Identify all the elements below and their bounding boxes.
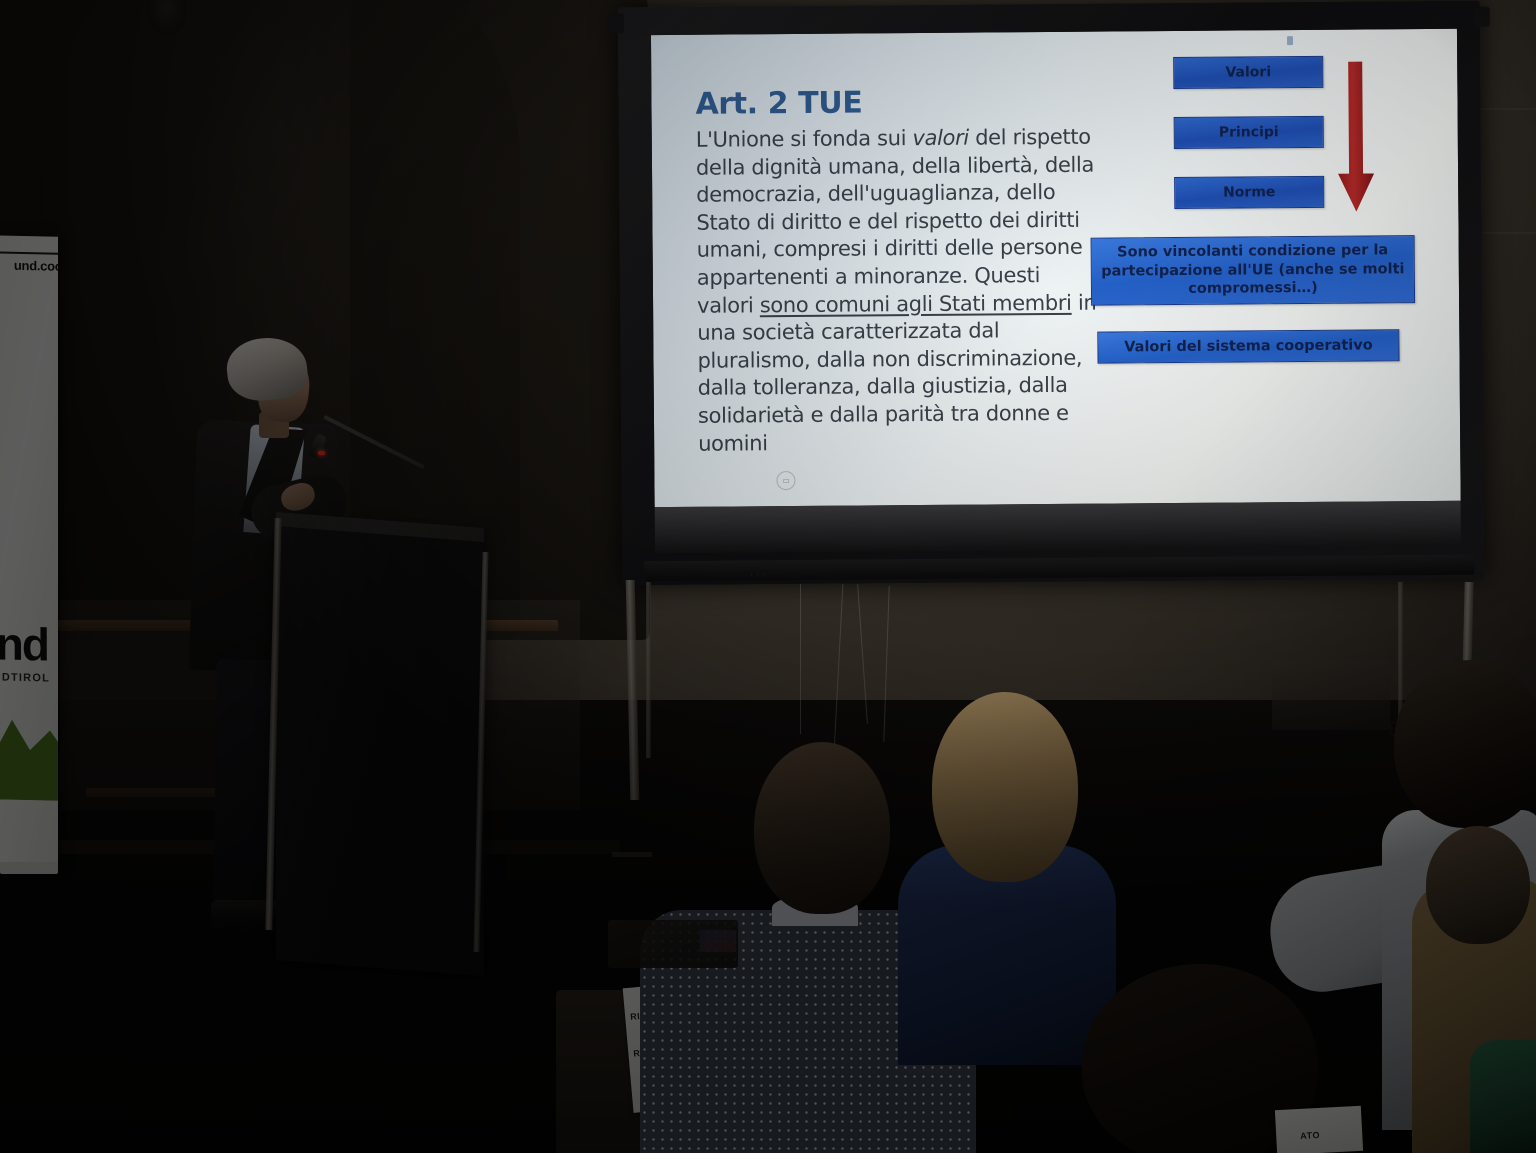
projection-screen-frame: Art. 2 TUE L'Unione si fonda sui valori … [618, 1, 1485, 586]
banner-rule [0, 251, 58, 254]
banner-logo-text: nd [0, 619, 48, 667]
ceiling-light-fixture [148, 0, 186, 34]
slide-body-text: L'Unione si fonda sui valori del rispett… [696, 124, 1099, 458]
rollup-banner: und.coop nd SÜDTIROL [0, 235, 58, 866]
presentation-mode-icon: ▭ [776, 471, 795, 490]
screen-brand-label: · · · [750, 571, 766, 578]
slide-title: Art. 2 TUE [695, 85, 862, 121]
microphone-led-indicator [318, 451, 325, 455]
reserved-sign-right: ATO [1275, 1106, 1363, 1153]
callout-binding-condition: Sono vincolanti condizione per la partec… [1091, 235, 1416, 306]
slide-artifact-mark [1287, 36, 1293, 45]
flow-box-norme: Norme [1174, 176, 1324, 209]
presentation-mode-glyph: ▭ [782, 477, 790, 485]
body-seg-italic: valori [912, 126, 969, 150]
presentation-slide: Art. 2 TUE L'Unione si fonda sui valori … [651, 29, 1461, 507]
audience-head-curly-dark [1394, 660, 1536, 828]
flow-box-valori: Valori [1173, 56, 1323, 89]
banner-url-text: und.coop [0, 257, 58, 274]
down-arrow-icon [1335, 61, 1376, 213]
screen-lower-skirt [655, 501, 1461, 553]
body-seg-0: L'Unione si fonda sui [696, 126, 913, 152]
flow-box-principi: Principi [1174, 116, 1324, 149]
callout-cooperative-values: Valori del sistema cooperativo [1097, 329, 1399, 363]
banner-base [0, 862, 58, 874]
reserved-sign-right-line: ATO [1300, 1130, 1320, 1141]
body-seg-2: del rispetto della dignità umana, della … [696, 125, 1094, 318]
audience-head-blonde [932, 692, 1078, 882]
audience-person-green-top [1470, 1040, 1536, 1153]
eyeglasses-icon [1390, 722, 1436, 736]
audience-head-tan-jacket [1426, 826, 1530, 944]
conference-photo-scene: und.coop nd SÜDTIROL Art. 2 TUE L'Unione… [0, 0, 1536, 1153]
projection-screen-surface: Art. 2 TUE L'Unione si fonda sui valori … [651, 29, 1461, 553]
podium [276, 520, 484, 976]
banner-mountain-graphic [0, 679, 58, 802]
audience-head-brown-hair [754, 742, 890, 914]
body-seg-underline: sono comuni agli Stati membri [760, 290, 1072, 316]
paper-on-table [700, 930, 736, 952]
screen-bottom-bar [644, 555, 1474, 582]
